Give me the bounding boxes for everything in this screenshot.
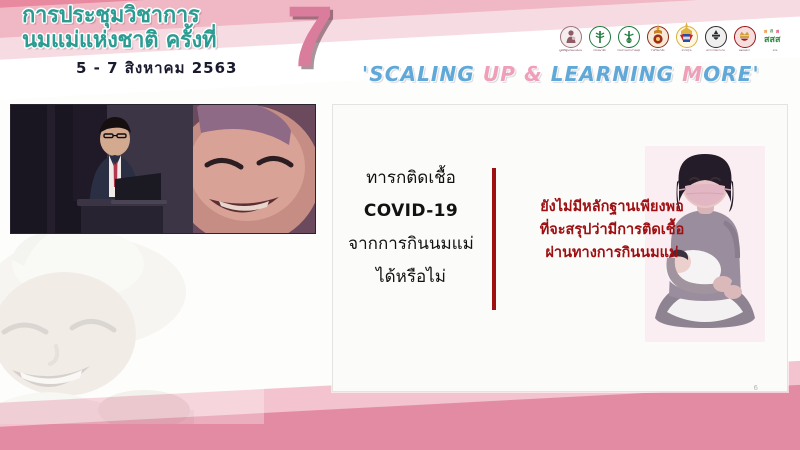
logo-royal-thai-emblem: ตราครุฑ [675,26,698,52]
logo-caption: แพทยสภา [733,49,756,52]
question-line-4: ได้หรือไม่ [346,261,476,294]
svg-text:ส: ส [770,28,774,34]
logo-thaihealth-sss: ส ส ส สสส สสส [762,26,788,52]
question-line-3: จากการกินนมแม่ [346,228,476,261]
tagline-part-learning: LEARNING [551,62,682,86]
logo-thai-breastfeeding-foundation: มูลนิธิศูนย์นมแม่แห่งประเทศไทย [559,26,582,52]
presentation-slide: การประชุมวิชาการ นมแม่แห่งชาติ ครั้งที่ … [0,0,800,450]
tagline-part-ore: ORE' [703,62,760,86]
tagline-open-quote: 'S [362,62,385,86]
logo-ministry-of-public-health: กรมอนามัย [588,26,611,52]
edition-number: 7 [286,0,334,80]
logo-thaihealth-glyph: ส ส ส สสส [763,27,787,47]
logo-caption: สสส [762,49,788,52]
question-line-1: ทารกติดเชื้อ [346,162,476,195]
conference-title-line1: การประชุมวิชาการ [22,3,199,28]
red-vertical-divider [492,168,496,310]
slide-header: การประชุมวิชาการ นมแม่แห่งชาติ ครั้งที่ … [0,0,800,100]
logo-mother-child-glyph [564,29,578,44]
question-text: ทารกติดเชื้อ COVID-19 จากการกินนมแม่ ได้… [346,162,476,294]
logo-caption: กระทรวงสาธารณสุข [617,49,640,52]
tagline-part-m: M [682,62,703,86]
question-line-2: COVID-19 [346,195,476,228]
logo-department-of-health: กระทรวงสาธารณสุข [617,26,640,52]
tagline-ampersand: & [516,62,551,86]
logo-caption: ราชวิทยาลัย [646,49,669,52]
logo-caduceus-glyph [593,30,607,44]
answer-line-3: ผ่านทางการกินนมแม่ [503,242,721,265]
answer-line-1: ยังไม่มีหลักฐานเพียงพอ [503,196,721,219]
conference-date: 5 - 7 สิงหาคม 2563 [76,56,237,80]
logo-caption: กรมอนามัย [588,49,611,52]
logo-medical-council: แพทยสภา [733,26,756,52]
watermark-child-photo [0,214,264,424]
logo-royal-college: ราชวิทยาลัย [646,26,669,52]
logo-caption: ตราครุฑ [675,49,698,52]
speaker-scene-illustration [11,105,315,233]
conference-title: การประชุมวิชาการ นมแม่แห่งชาติ ครั้งที่ [22,3,292,53]
conference-speaker-video-frame[interactable] [10,104,316,234]
logo-nursing-council: สภาการพยาบาล [704,26,727,52]
conference-title-line2: นมแม่แห่งชาติ ครั้งที่ [22,28,292,53]
logo-nursing-lamp-glyph [709,29,723,43]
logo-crown-emblem-glyph [737,29,752,44]
conference-tagline: 'SCALING UP & LEARNING MORE' [362,62,760,86]
logo-thai-royal-crest-glyph [678,22,695,47]
logo-royal-crown-glyph [650,24,666,46]
logo-caption: สภาการพยาบาล [704,49,727,52]
logo-caduceus-glyph [622,30,636,44]
tagline-part-scaling: CALING [385,62,483,86]
answer-text: ยังไม่มีหลักฐานเพียงพอ ที่จะสรุปว่ามีการ… [503,196,721,265]
sponsor-logo-row: มูลนิธิศูนย์นมแม่แห่งประเทศไทย กรมอนามัย [559,26,788,52]
page-number: 6 [754,384,758,392]
tagline-part-up: UP [483,62,516,86]
answer-line-2: ที่จะสรุปว่ามีการติดเชื้อ [503,219,721,242]
logo-caption: มูลนิธิศูนย์นมแม่แห่งประเทศไทย [559,49,582,52]
svg-text:สสส: สสส [764,35,781,45]
